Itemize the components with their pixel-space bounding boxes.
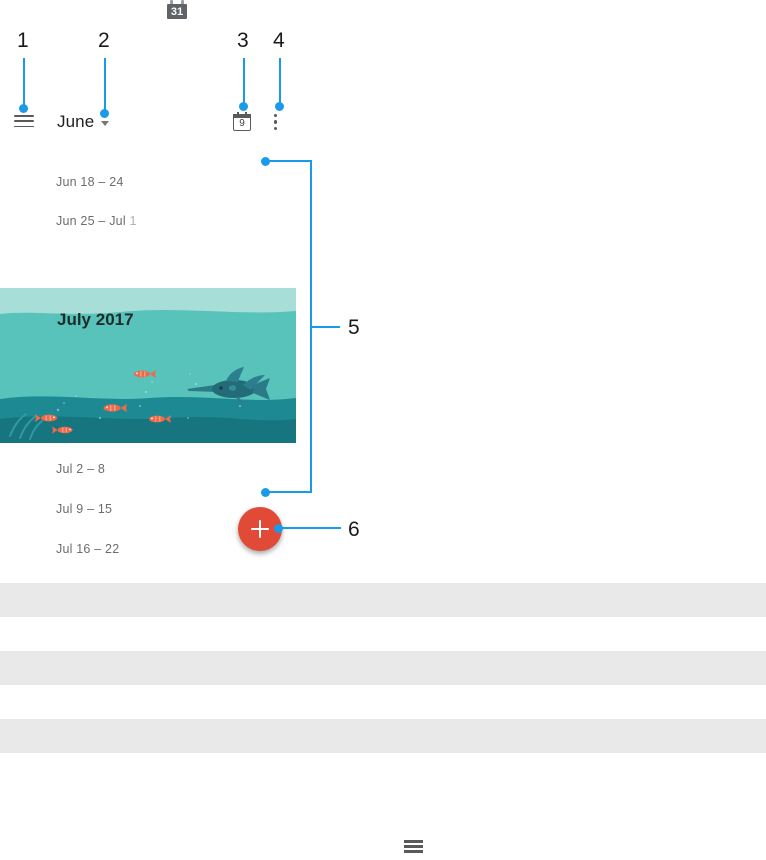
calendar-icon-day: 31	[167, 5, 187, 19]
plus-icon-stem	[259, 520, 261, 538]
callout-number-4: 4	[273, 29, 285, 53]
callout-number-1: 1	[17, 29, 29, 53]
placeholder-band	[0, 651, 766, 685]
callout-leader-1	[23, 58, 25, 108]
month-dropdown-label[interactable]: June	[57, 112, 94, 132]
schedule-list[interactable]: Jun 18 – 24 Jun 25 – Jul 1	[0, 145, 296, 570]
list-item[interactable]: Jun 18 – 24	[0, 163, 296, 203]
callout-dot-4	[275, 102, 284, 111]
callout-dot-3	[239, 102, 248, 111]
month-hero-title: July 2017	[57, 310, 134, 330]
placeholder-band	[0, 583, 766, 617]
callout-dot-2	[100, 109, 109, 118]
phone-screen: June 9 Jun 18 – 24 Jun 25 – Jul 1	[0, 100, 296, 570]
callout-dot-1	[19, 104, 28, 113]
list-item[interactable]: Jul 2 – 8	[0, 450, 296, 490]
hamburger-menu-icon[interactable]	[14, 115, 34, 129]
callout-bracket-5-top	[268, 160, 312, 162]
week-range-label: Jul 2 – 8	[56, 462, 105, 476]
callout-number-6: 6	[348, 518, 360, 542]
callout-leader-2	[104, 58, 106, 113]
placeholder-band	[0, 719, 766, 753]
underwater-scene-svg	[0, 288, 296, 443]
month-hero-illustration: July 2017	[0, 288, 296, 443]
app-bar: June 9	[0, 100, 296, 145]
callout-leader-3	[243, 58, 245, 106]
week-range-label: Jul 16 – 22	[56, 542, 119, 556]
week-range-label: Jun 25 – Jul 1	[56, 214, 137, 228]
today-icon-day: 9	[233, 118, 251, 130]
screenshot-root: 31 June 9 Jun 18 – 24	[0, 0, 766, 860]
list-item[interactable]: Jun 25 – Jul 1	[0, 202, 296, 242]
calendar-today-icon[interactable]: 9	[233, 112, 253, 132]
google-calendar-icon: 31	[166, 0, 188, 19]
week-range-label: Jun 18 – 24	[56, 175, 124, 189]
callout-number-3: 3	[237, 29, 249, 53]
callout-number-2: 2	[98, 29, 110, 53]
callout-number-5: 5	[348, 316, 360, 340]
callout-bracket-5-bottom	[268, 491, 312, 493]
chevron-down-icon[interactable]	[101, 121, 109, 126]
week-range-label: Jul 9 – 15	[56, 502, 112, 516]
callout-leader-4	[279, 58, 281, 106]
bottom-hamburger-menu-icon[interactable]	[404, 840, 423, 854]
callout-leader-6	[281, 527, 341, 529]
more-vertical-icon[interactable]	[274, 114, 278, 132]
callout-leader-5	[310, 326, 340, 328]
